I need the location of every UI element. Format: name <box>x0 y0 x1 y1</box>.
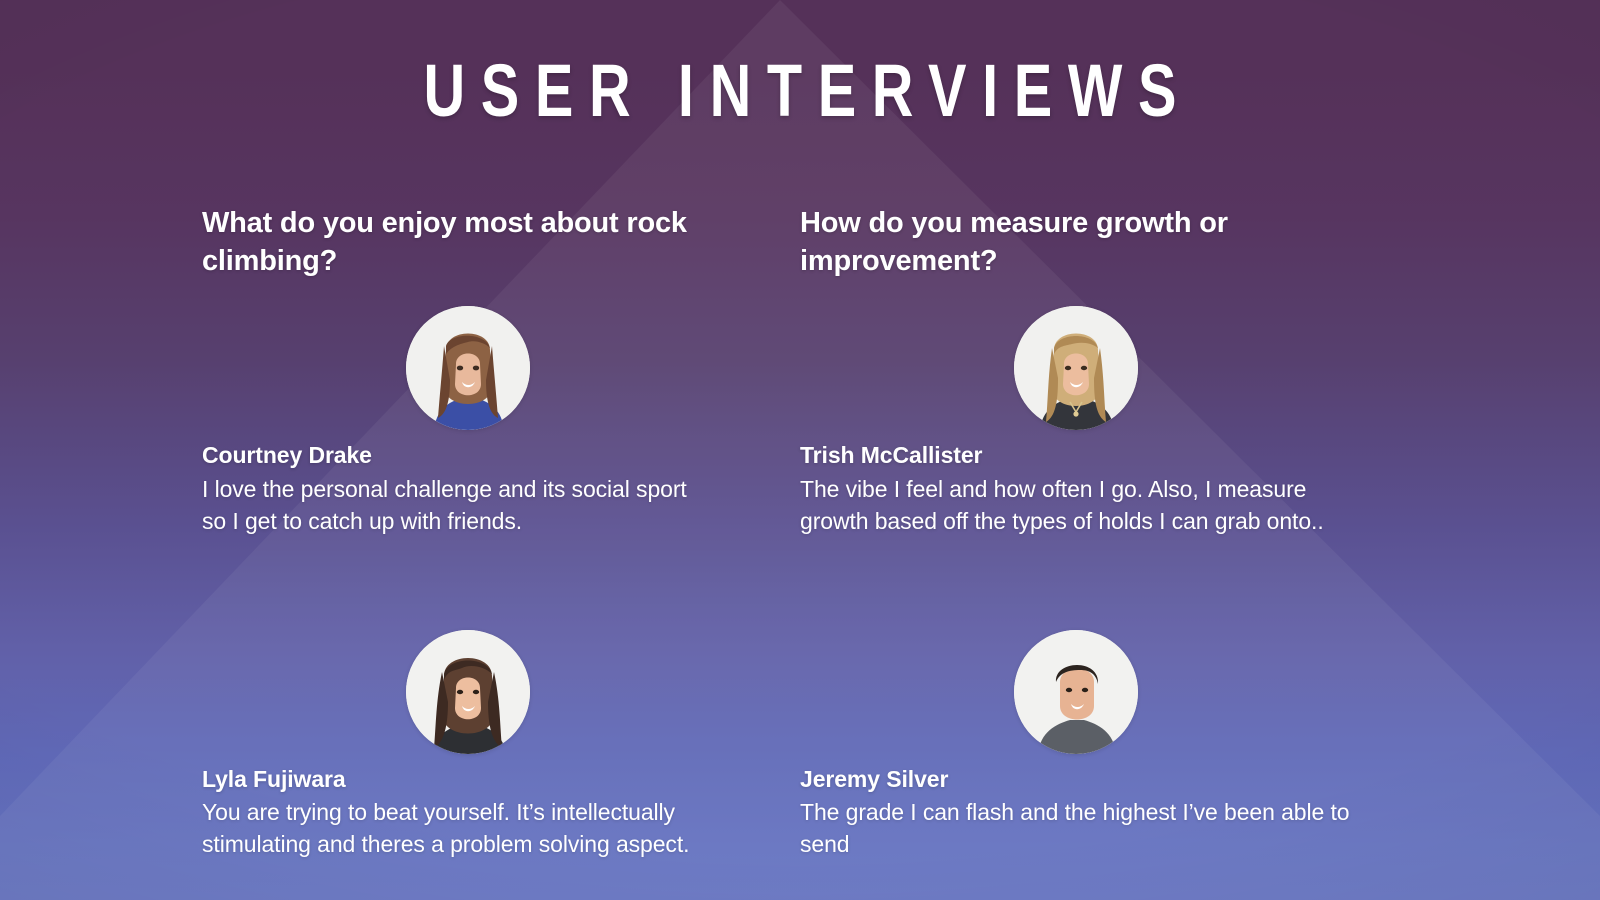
interview-entry: Courtney Drake I love the personal chall… <box>202 306 802 537</box>
interview-column-right: How do you measure growth or improvement… <box>800 205 1400 861</box>
question-heading-left: What do you enjoy most about rock climbi… <box>202 205 712 280</box>
page-title: USER INTERVIEWS <box>176 54 1424 128</box>
person-name: Courtney Drake <box>202 441 802 470</box>
person-name: Lyla Fujiwara <box>202 765 802 794</box>
person-name: Jeremy Silver <box>800 765 1400 794</box>
slide-canvas: USER INTERVIEWS What do you enjoy most a… <box>0 0 1600 900</box>
person-quote: You are trying to beat yourself. It’s in… <box>202 796 702 860</box>
person-quote: The grade I can flash and the highest I’… <box>800 796 1380 860</box>
entry-text: Courtney Drake I love the personal chall… <box>202 306 802 537</box>
interview-entry: Lyla Fujiwara You are trying to beat you… <box>202 630 802 861</box>
entry-text: Trish McCallister The vibe I feel and ho… <box>800 306 1400 537</box>
entry-text: Jeremy Silver The grade I can flash and … <box>800 630 1400 861</box>
question-heading-right: How do you measure growth or improvement… <box>800 205 1320 280</box>
person-quote: I love the personal challenge and its so… <box>202 473 702 537</box>
entry-text: Lyla Fujiwara You are trying to beat you… <box>202 630 802 861</box>
person-name: Trish McCallister <box>800 441 1400 470</box>
interview-entry: Trish McCallister The vibe I feel and ho… <box>800 306 1400 537</box>
person-quote: The vibe I feel and how often I go. Also… <box>800 473 1380 537</box>
interview-column-left: What do you enjoy most about rock climbi… <box>202 205 802 861</box>
interview-entry: Jeremy Silver The grade I can flash and … <box>800 630 1400 861</box>
